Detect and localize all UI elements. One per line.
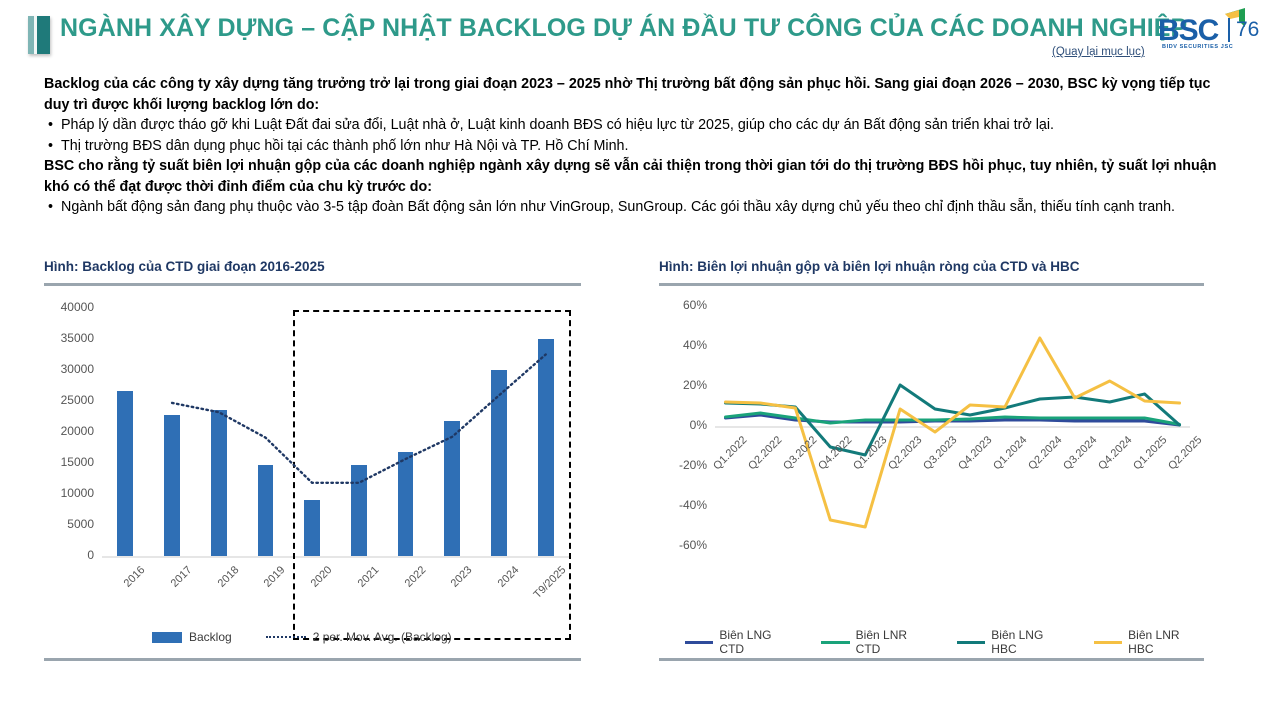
legend-label: Backlog (189, 630, 232, 644)
backlog-chart: 0500010000150002000025000300003500040000… (44, 292, 581, 652)
paragraph-2: BSC cho rằng tỷ suất biên lợi nhuận gộp … (44, 156, 1224, 197)
bsc-logo: BSC BIDV SECURITIES JSC (1158, 12, 1246, 46)
bar-2017 (164, 415, 180, 556)
chart-legend: Biên LNG CTDBiên LNR CTDBiên LNG HBCBiên… (685, 628, 1204, 656)
y-axis-tick-label: 5000 (44, 517, 94, 531)
y-axis-tick-label: 40% (659, 338, 707, 352)
zero-axis-line (715, 426, 1190, 428)
right-panel-rule (659, 283, 1204, 286)
margin-chart: 60%40%20%0%-20%-40%-60%Q1.2022Q2.2022Q3.… (659, 292, 1204, 652)
bsc-logo-text: BSC (1158, 14, 1218, 48)
legend-swatch-bar (152, 632, 182, 643)
left-panel-rule (44, 283, 581, 286)
y-axis-tick-label: 40000 (44, 300, 94, 314)
forecast-highlight-box (293, 310, 571, 640)
left-panel-bottom-rule (44, 658, 581, 661)
chart-legend: Backlog2 per. Mov. Avg. (Backlog) (152, 630, 452, 644)
y-axis-tick-label: 20000 (44, 424, 94, 438)
legend-label: Biên LNR CTD (856, 628, 931, 656)
page-header: NGÀNH XÂY DỰNG – CẬP NHẬT BACKLOG DỰ ÁN … (0, 0, 1280, 62)
y-axis-tick-label: 30000 (44, 362, 94, 376)
bar-2022 (398, 452, 414, 556)
legend-swatch-line (1094, 641, 1122, 644)
left-chart-title: Hình: Backlog của CTD giai đoạn 2016-202… (44, 259, 325, 274)
bullet-text: Pháp lý dần được tháo gỡ khi Luật Đất đa… (61, 115, 1224, 136)
y-axis-tick-label: -20% (659, 458, 707, 472)
y-axis-tick-label: -60% (659, 538, 707, 552)
y-axis-tick-label: 10000 (44, 486, 94, 500)
y-axis-tick-label: 0% (659, 418, 707, 432)
legend-item-biên-lng-hbc: Biên LNG HBC (957, 628, 1068, 656)
legend-swatch-dotted-line (266, 636, 306, 638)
page-number: 76 (1236, 18, 1259, 42)
bullet-text: Thị trường BĐS dân dụng phục hồi tại các… (61, 136, 1224, 157)
y-axis-tick-label: 0 (44, 548, 94, 562)
bullet-marker: • (48, 136, 53, 157)
back-to-toc-link[interactable]: (Quay lại mục lục) (1052, 46, 1145, 58)
page-title: NGÀNH XÂY DỰNG – CẬP NHẬT BACKLOG DỰ ÁN … (60, 14, 1060, 43)
legend-label: Biên LNR HBC (1128, 628, 1204, 656)
bar-2019 (258, 465, 274, 556)
bullet-item-1: • Pháp lý dần được tháo gỡ khi Luật Đất … (44, 115, 1224, 136)
x-axis-label-2016: 2016 (97, 564, 148, 615)
legend-label: 2 per. Mov. Avg. (Backlog) (313, 630, 452, 644)
series-biên-lnr-ctd (726, 413, 1180, 424)
y-axis-tick-label: 35000 (44, 331, 94, 345)
bullet-marker: • (48, 197, 53, 218)
x-axis-label-2019: 2019 (237, 564, 288, 615)
legend-swatch-line (957, 641, 985, 644)
bar-2021 (351, 465, 367, 556)
legend-item-backlog: Backlog (152, 630, 232, 644)
bsc-logo-tagline: BIDV SECURITIES JSC (1162, 44, 1233, 50)
bullet-text: Ngành bất động sản đang phụ thuộc vào 3-… (61, 197, 1224, 218)
page-number-divider (1228, 18, 1230, 42)
legend-swatch-line (821, 641, 849, 644)
bullet-marker: • (48, 115, 53, 136)
y-axis-tick-label: 25000 (44, 393, 94, 407)
x-axis-label-2018: 2018 (190, 564, 241, 615)
header-accent-mark (28, 16, 50, 54)
y-axis-tick-label: 60% (659, 298, 707, 312)
y-axis-tick-label: 20% (659, 378, 707, 392)
bar-2023 (444, 421, 460, 556)
legend-item-moving-average: 2 per. Mov. Avg. (Backlog) (266, 630, 452, 644)
bar-2016 (117, 391, 133, 556)
bar-2018 (211, 410, 227, 556)
body-text-block: Backlog của các công ty xây dựng tăng tr… (44, 74, 1224, 218)
bar-T9/2025 (538, 339, 554, 556)
x-axis-label-2017: 2017 (144, 564, 195, 615)
bar-2024 (491, 370, 507, 556)
right-chart-title: Hình: Biên lợi nhuận gộp và biên lợi nhu… (659, 259, 1079, 274)
series-biên-lnr-hbc (726, 338, 1180, 527)
bullet-item-3: • Ngành bất động sản đang phụ thuộc vào … (44, 197, 1224, 218)
legend-item-biên-lng-ctd: Biên LNG CTD (685, 628, 795, 656)
legend-label: Biên LNG HBC (991, 628, 1067, 656)
legend-swatch-line (685, 641, 713, 644)
legend-label: Biên LNG CTD (719, 628, 795, 656)
paragraph-1: Backlog của các công ty xây dựng tăng tr… (44, 74, 1224, 115)
legend-item-biên-lnr-ctd: Biên LNR CTD (821, 628, 931, 656)
series-biên-lng-ctd (726, 415, 1180, 425)
legend-item-biên-lnr-hbc: Biên LNR HBC (1094, 628, 1204, 656)
bar-2020 (304, 500, 320, 556)
y-axis-tick-label: 15000 (44, 455, 94, 469)
y-axis-tick-label: -40% (659, 498, 707, 512)
right-panel-bottom-rule (659, 658, 1204, 661)
bullet-item-2: • Thị trường BĐS dân dụng phục hồi tại c… (44, 136, 1224, 157)
